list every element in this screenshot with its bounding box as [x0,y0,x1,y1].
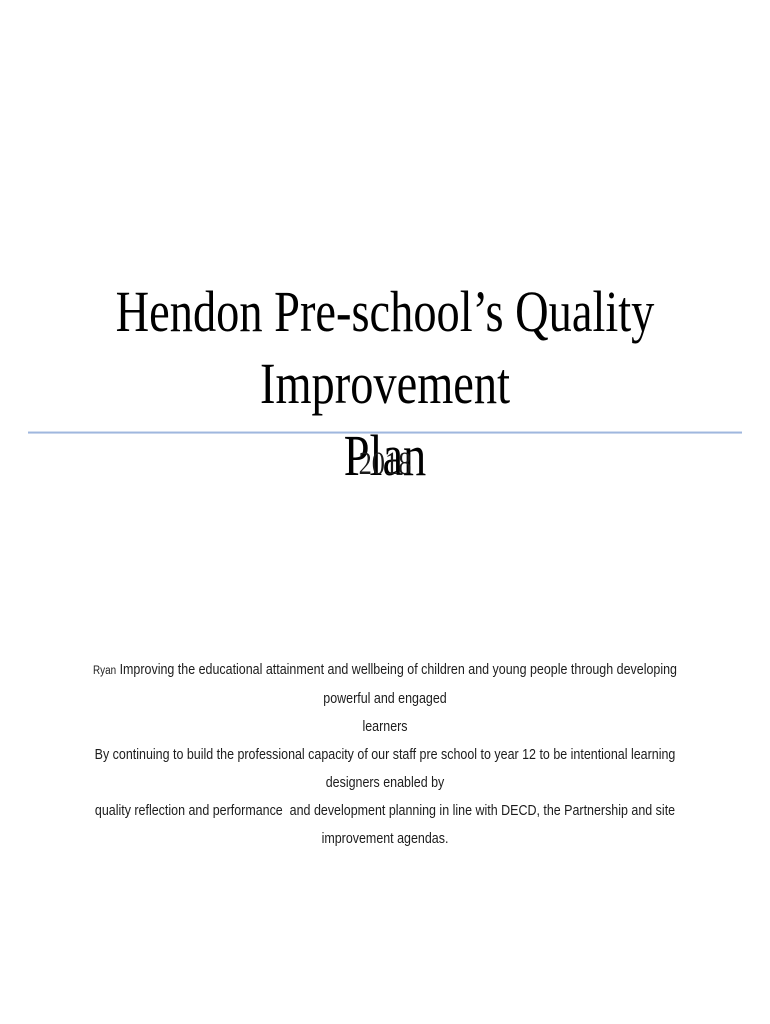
title-divider-rule [28,431,742,434]
page-title-line-1: Hendon Pre-school’s Quality Improvement [99,276,670,420]
subtitle-block: 2018 [28,444,742,484]
paragraph-one-line-one: Ryan Improving the educational attainmen… [88,656,681,713]
document-year-subtitle: 2018 [99,444,670,484]
document-page: Hendon Pre-school’s Quality Improvement … [0,0,770,1024]
body-text-block: Ryan Improving the educational attainmen… [40,656,730,853]
author-byline: Ryan [93,665,116,677]
paragraph-one-line-one-text: Improving the educational attainment and… [120,662,681,707]
paragraph-two-line-one: By continuing to build the professional … [88,741,681,797]
paragraph-two-line-two: quality reflection and performance and d… [88,797,681,853]
paragraph-one-line-two: learners [88,713,681,741]
